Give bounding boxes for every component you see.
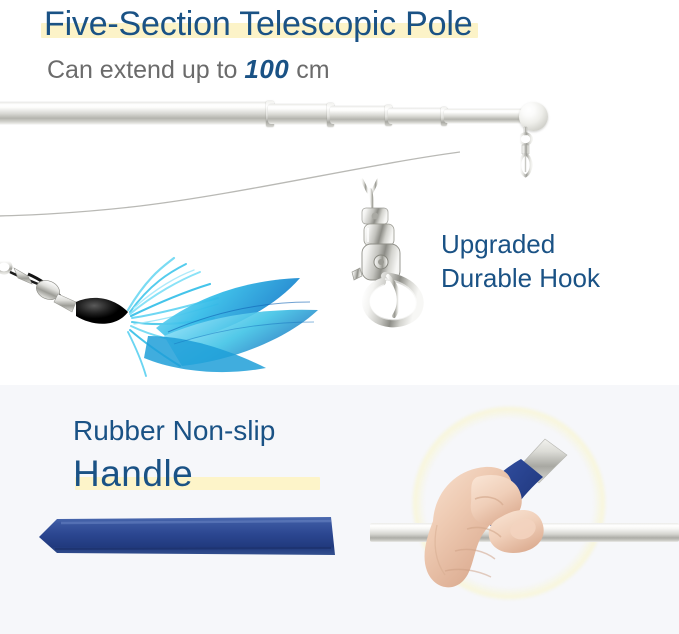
pole-section-1 — [0, 102, 274, 124]
pole-section-5 — [444, 109, 526, 123]
hand-holding-handle-graphic — [415, 425, 611, 605]
hook-callout-label: Upgraded Durable Hook — [441, 227, 600, 295]
pole-section-3 — [330, 106, 392, 124]
product-infographic: Five-Section Telescopic Pole Can extend … — [0, 0, 679, 634]
telescopic-pole-graphic — [0, 96, 560, 146]
handle-heading: Rubber Non-slip Handle — [73, 413, 275, 497]
handle-heading-line2-wrap: Handle — [73, 451, 193, 497]
rubber-handle-graphic — [35, 515, 335, 557]
subtitle-value: 100 — [244, 54, 289, 84]
lobster-clasp-hook-icon — [330, 176, 450, 328]
page-subtitle: Can extend up to 100 cm — [47, 52, 330, 87]
title-text: Five-Section Telescopic Pole — [44, 5, 472, 43]
title-text-line: Five-Section Telescopic Pole — [44, 2, 472, 46]
hook-callout-label-line1: Upgraded — [441, 227, 600, 261]
pole-swivel-clip-icon — [514, 126, 540, 184]
feather-toy-graphic — [0, 232, 348, 378]
pole-section-2 — [268, 104, 334, 124]
hook-callout-label-line2: Durable Hook — [441, 261, 600, 295]
handle-heading-line2: Handle — [73, 453, 193, 494]
page-title: Five-Section Telescopic Pole — [44, 2, 472, 46]
subtitle-suffix: cm — [296, 56, 329, 84]
top-panel: Five-Section Telescopic Pole Can extend … — [0, 0, 679, 378]
subtitle-prefix: Can extend up to — [47, 56, 237, 84]
pole-section-4 — [388, 108, 448, 124]
handle-heading-line1: Rubber Non-slip — [73, 413, 275, 449]
panel-divider — [0, 378, 679, 385]
